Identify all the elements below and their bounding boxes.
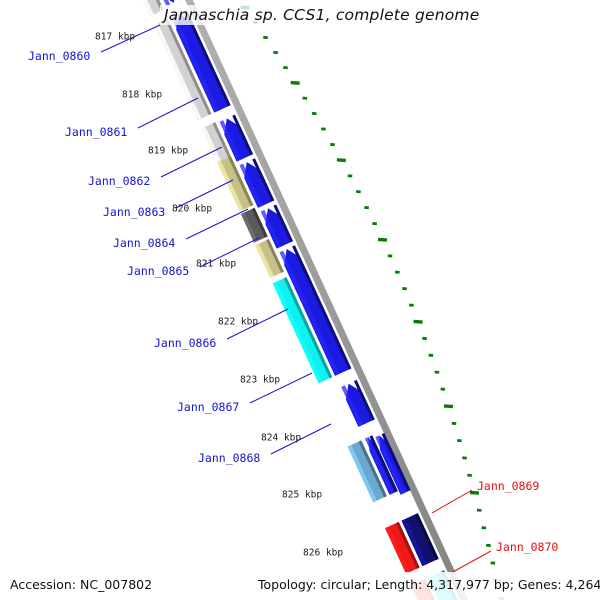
scale-dash — [291, 83, 300, 84]
gene-label[interactable]: Jann_0868 — [198, 451, 260, 465]
inner-segment-track[interactable] — [114, 0, 452, 600]
gene-label[interactable]: Jann_0861 — [65, 125, 127, 139]
gene-label[interactable]: Jann_0864 — [113, 236, 175, 250]
gene-label[interactable]: Jann_0862 — [88, 174, 150, 188]
gene-label[interactable]: Jann_0866 — [154, 336, 216, 350]
scale-tick-label: 817 kbp — [95, 32, 135, 43]
scale-tick-label: 818 kbp — [122, 90, 162, 101]
gene-label[interactable]: Jann_0865 — [127, 264, 189, 278]
footer-bar: Accession: NC_007802 Topology: circular;… — [0, 572, 600, 600]
gene-label[interactable]: Jann_0867 — [177, 400, 239, 414]
scale-dash — [378, 239, 387, 240]
scale-dash — [414, 321, 423, 322]
genome-viewer: Jann_0860Jann_0861Jann_0862Jann_0863Jann… — [0, 0, 600, 600]
scale-tick-label: 819 kbp — [148, 146, 188, 157]
scale-dash — [337, 160, 346, 161]
topology-text: Topology: circular; Length: 4,317,977 bp… — [258, 577, 600, 592]
scale-tick-label: 826 kbp — [303, 548, 343, 559]
genome-map-canvas[interactable] — [0, 0, 600, 600]
gene-label[interactable]: Jann_0869 — [477, 479, 539, 493]
gene-label-leader — [451, 551, 491, 573]
gene-label-leader — [138, 98, 198, 128]
gene-label[interactable]: Jann_0863 — [103, 205, 165, 219]
scale-tick-label: 820 kbp — [172, 204, 212, 215]
scale-tick-label: 823 kbp — [240, 375, 280, 386]
scale-tick-label: 825 kbp — [282, 490, 322, 501]
gene-label-leader — [432, 490, 472, 513]
scale-tick-label: 824 kbp — [261, 433, 301, 444]
inner-segment[interactable] — [114, 0, 164, 16]
gene-label[interactable]: Jann_0870 — [496, 540, 558, 554]
accession-text: Accession: NC_007802 — [10, 577, 152, 592]
gene-label[interactable]: Jann_0860 — [28, 49, 90, 63]
scale-tick-label: 821 kbp — [196, 259, 236, 270]
scale-dash — [444, 406, 453, 407]
scale-tick-label: 822 kbp — [218, 317, 258, 328]
page-title: Jannaschia sp. CCS1, complete genome — [160, 5, 483, 25]
